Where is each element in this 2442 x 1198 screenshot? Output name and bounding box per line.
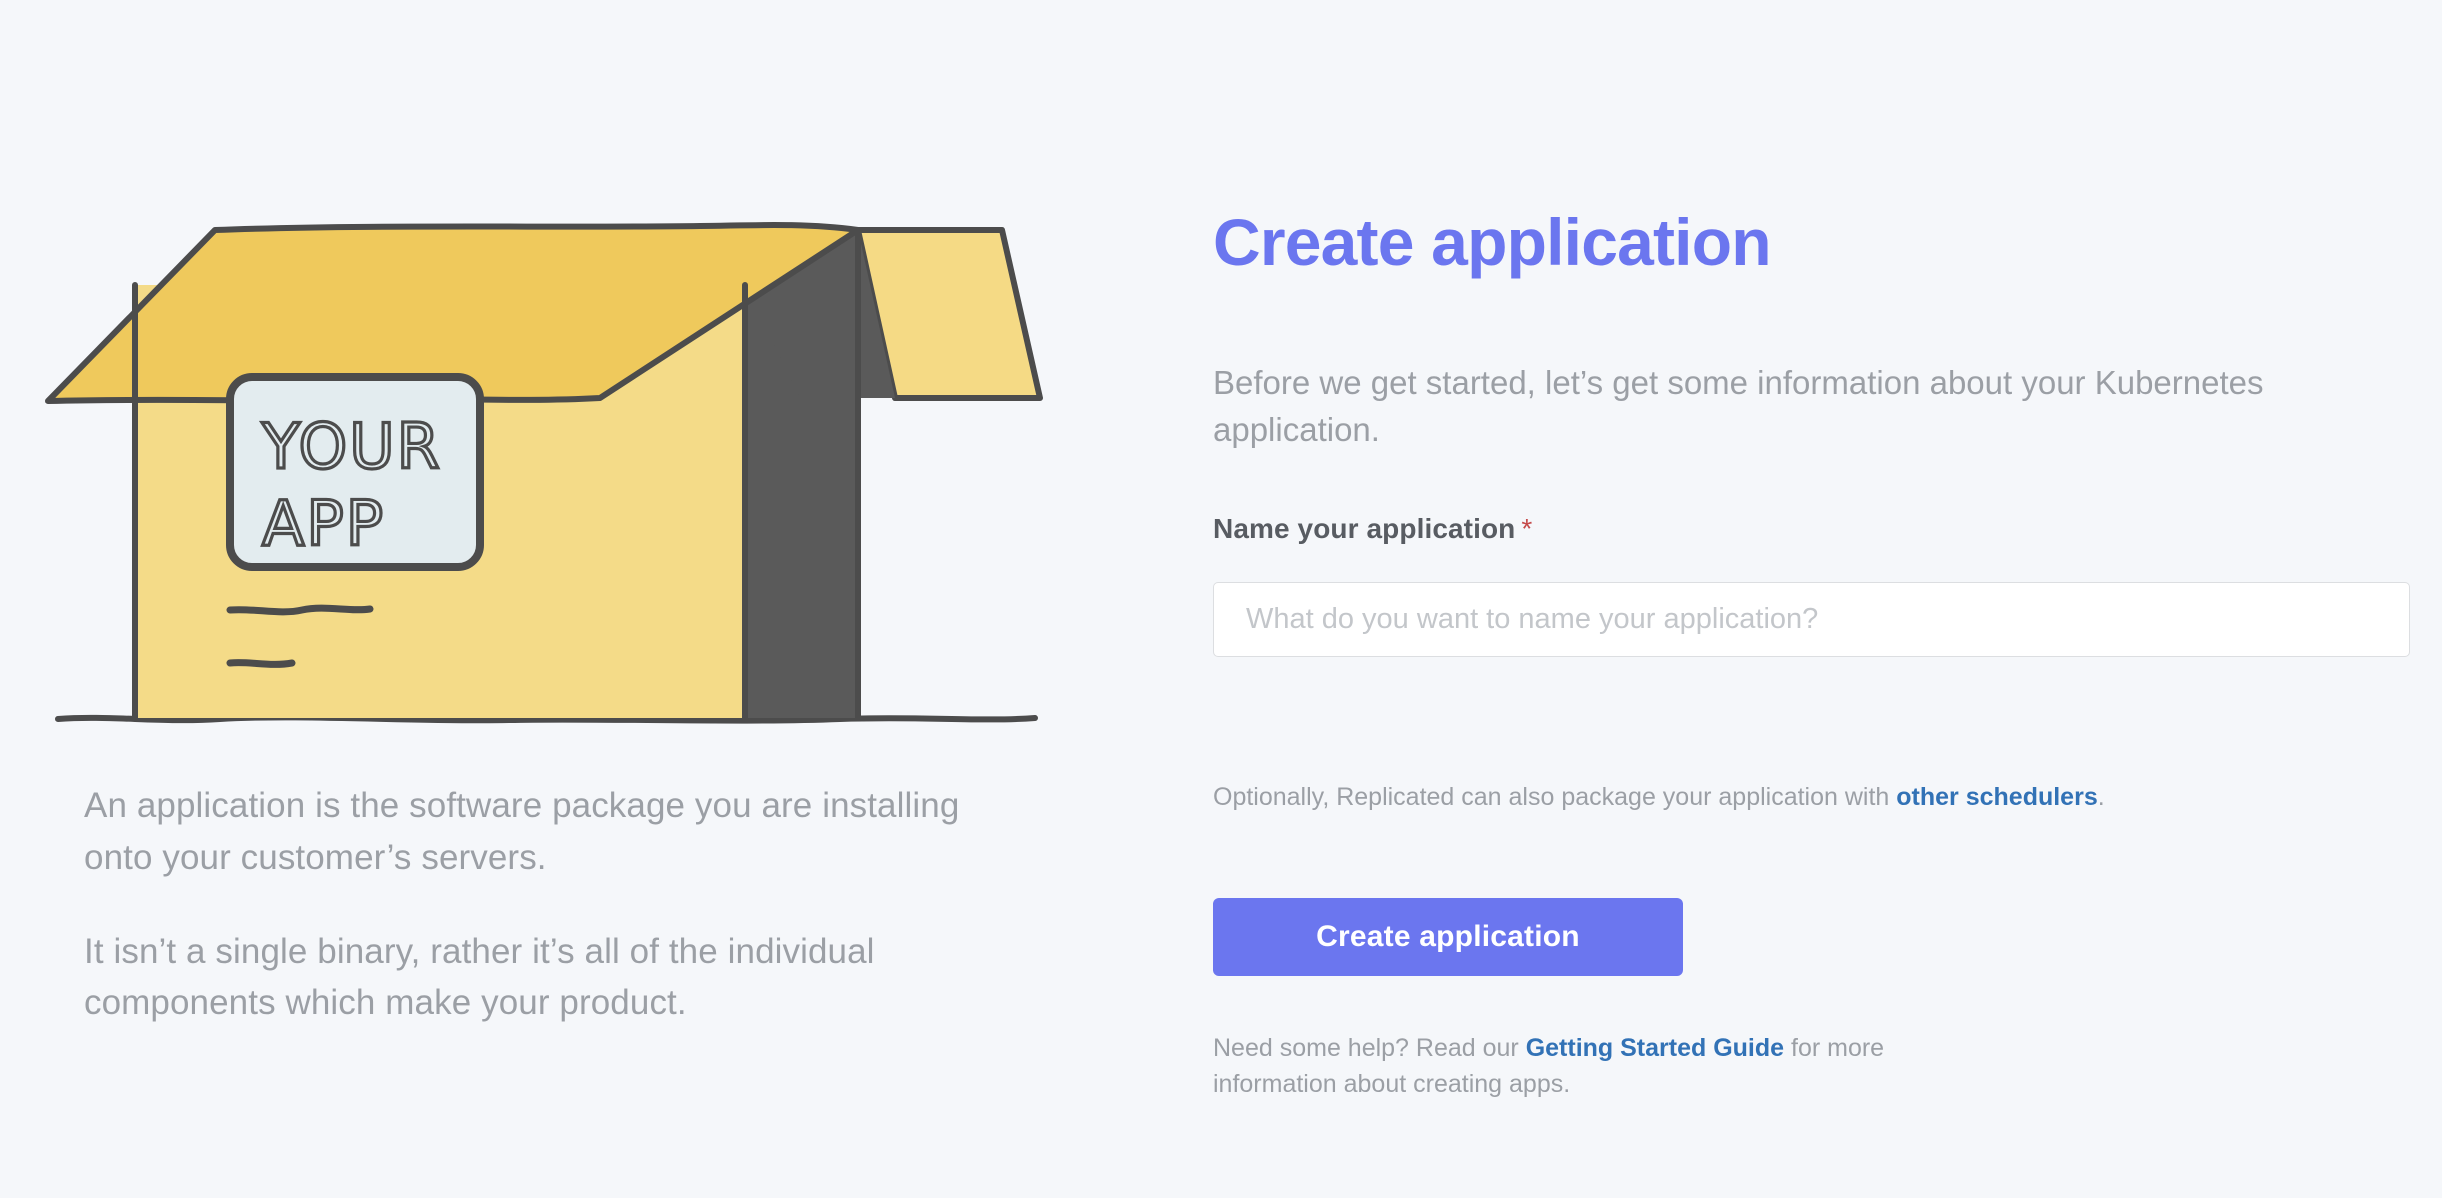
label-text-line1: YOUR: [261, 410, 442, 483]
getting-started-guide-link[interactable]: Getting Started Guide: [1526, 1034, 1784, 1062]
description-paragraph-2: It isn’t a single binary, rather it’s al…: [84, 926, 1004, 1030]
required-asterisk: *: [1521, 513, 1532, 544]
box-mark-line-2: [230, 663, 292, 665]
other-schedulers-link[interactable]: other schedulers: [1896, 783, 2097, 811]
other-schedulers-suffix: .: [2098, 783, 2105, 811]
create-application-page: YOUR APP An application is the software …: [0, 0, 2442, 1198]
application-description: An application is the software package y…: [84, 780, 1004, 1029]
your-app-box-illustration: YOUR APP: [40, 170, 1050, 740]
intro-text: Before we get started, let’s get some in…: [1213, 360, 2363, 454]
other-schedulers-note: Optionally, Replicated can also package …: [1213, 780, 2105, 815]
left-column: YOUR APP An application is the software …: [0, 0, 1140, 1198]
label-text-line2: APP: [262, 487, 385, 560]
application-name-input[interactable]: [1213, 582, 2410, 657]
help-note: Need some help? Read our Getting Started…: [1213, 1030, 2013, 1103]
right-column: Create application Before we get started…: [1213, 0, 2413, 1198]
page-title: Create application: [1213, 208, 1771, 277]
other-schedulers-prefix: Optionally, Replicated can also package …: [1213, 783, 1896, 811]
description-paragraph-1: An application is the software package y…: [84, 780, 1004, 884]
create-application-button[interactable]: Create application: [1213, 898, 1683, 976]
name-field-label-text: Name your application: [1213, 513, 1515, 544]
name-field-label: Name your application*: [1213, 513, 1532, 545]
help-prefix: Need some help? Read our: [1213, 1034, 1526, 1062]
box-mark-line-1: [230, 608, 370, 612]
